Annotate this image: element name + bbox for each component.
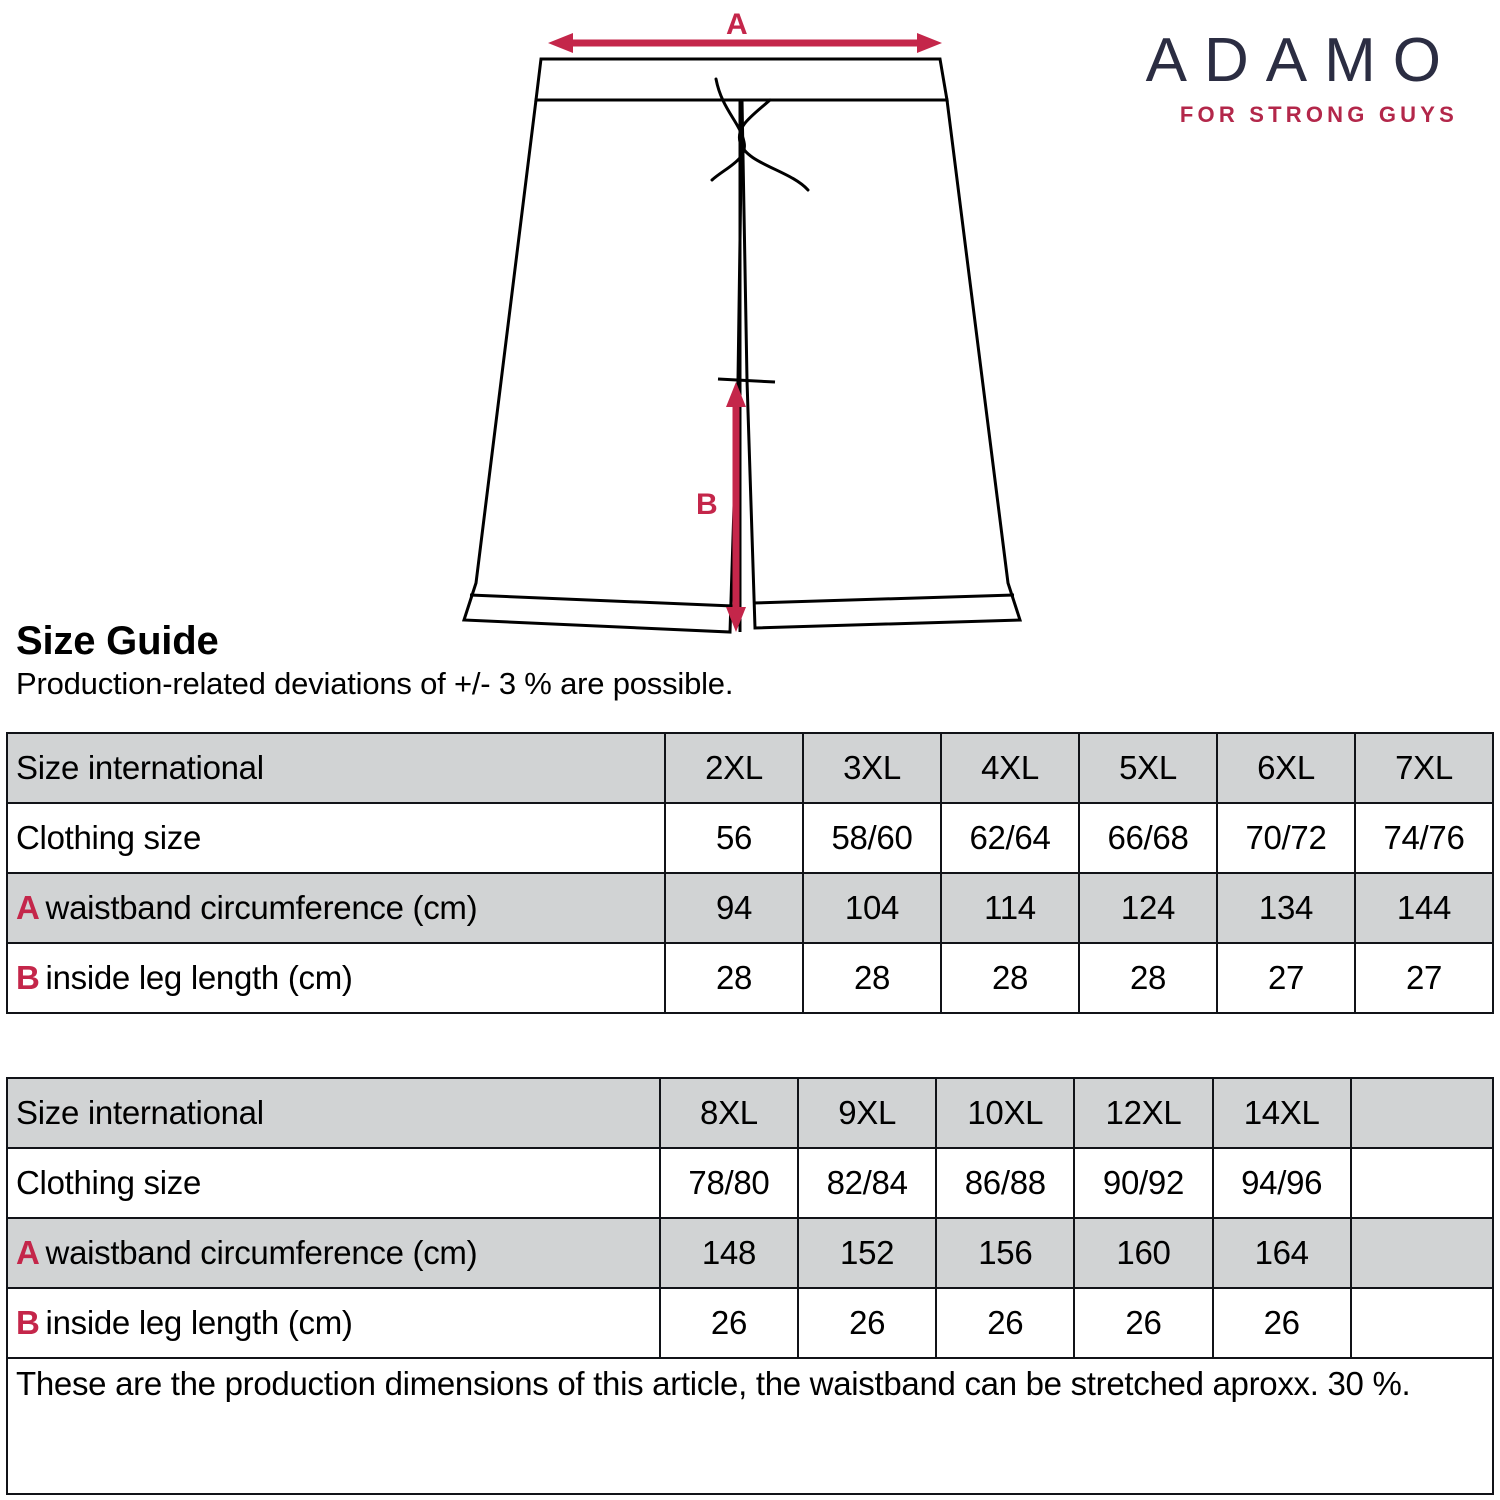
measure-marker-b: B (16, 959, 40, 996)
cell-clothing-1: 82/84 (798, 1148, 936, 1218)
cell-waistband-3: 160 (1074, 1218, 1212, 1288)
row-label-clothing-size: Clothing size (7, 1148, 660, 1218)
table-row-inside-leg: Binside leg length (cm) 28 28 28 28 27 2… (7, 943, 1493, 1013)
cell-inseam-4: 27 (1217, 943, 1355, 1013)
deviation-note: Production-related deviations of +/- 3 %… (16, 666, 1016, 702)
cell-waistband-0: 94 (665, 873, 803, 943)
row-label-waistband: Awaistband circumference (cm) (7, 1218, 660, 1288)
cell-clothing-4: 70/72 (1217, 803, 1355, 873)
cell-clothing-3: 66/68 (1079, 803, 1217, 873)
brand-logo: ADAMO FOR STRONG GUYS (1038, 30, 1458, 128)
cell-waistband-0: 148 (660, 1218, 798, 1288)
cell-waistband-2: 114 (941, 873, 1079, 943)
cell-waistband-5-empty (1351, 1218, 1493, 1288)
cell-waistband-1: 104 (803, 873, 941, 943)
measure-marker-a: A (16, 889, 40, 926)
cell-inseam-1: 28 (803, 943, 941, 1013)
cell-size-5: 7XL (1355, 733, 1493, 803)
measure-label-a: A (726, 8, 748, 42)
production-dimensions-footnote: These are the production dimensions of t… (7, 1358, 1493, 1494)
cell-size-2: 4XL (941, 733, 1079, 803)
cell-size-0: 2XL (665, 733, 803, 803)
cell-size-3: 12XL (1074, 1078, 1212, 1148)
row-label-text: inside leg length (cm) (46, 1304, 353, 1341)
cell-clothing-1: 58/60 (803, 803, 941, 873)
cell-size-3: 5XL (1079, 733, 1217, 803)
row-label-size-international: Size international (7, 733, 665, 803)
page-title: Size Guide (16, 620, 1016, 662)
cell-clothing-0: 56 (665, 803, 803, 873)
row-label-text: Size international (16, 749, 264, 786)
row-label-waistband: Awaistband circumference (cm) (7, 873, 665, 943)
cell-size-1: 3XL (803, 733, 941, 803)
row-label-text: waistband circumference (cm) (46, 889, 478, 926)
row-label-size-international: Size international (7, 1078, 660, 1148)
cell-inseam-5-empty (1351, 1288, 1493, 1358)
size-table-8xl-14xl: Size international 8XL 9XL 10XL 12XL 14X… (6, 1077, 1494, 1495)
cell-size-5-empty (1351, 1078, 1493, 1148)
cell-inseam-0: 28 (665, 943, 803, 1013)
right-leg-outline (742, 100, 1020, 628)
left-leg-outline (464, 100, 742, 632)
cell-clothing-5-empty (1351, 1148, 1493, 1218)
cell-inseam-2: 28 (941, 943, 1079, 1013)
table-row-size-international: Size international 8XL 9XL 10XL 12XL 14X… (7, 1078, 1493, 1148)
cell-size-2: 10XL (936, 1078, 1074, 1148)
cell-size-4: 14XL (1213, 1078, 1351, 1148)
table-row-clothing-size: Clothing size 56 58/60 62/64 66/68 70/72… (7, 803, 1493, 873)
measure-marker-b: B (16, 1304, 40, 1341)
cell-clothing-4: 94/96 (1213, 1148, 1351, 1218)
cell-clothing-3: 90/92 (1074, 1148, 1212, 1218)
row-label-clothing-size: Clothing size (7, 803, 665, 873)
table-row-inside-leg: Binside leg length (cm) 26 26 26 26 26 (7, 1288, 1493, 1358)
cell-waistband-4: 164 (1213, 1218, 1351, 1288)
table-row-waistband: Awaistband circumference (cm) 148 152 15… (7, 1218, 1493, 1288)
cell-inseam-3: 26 (1074, 1288, 1212, 1358)
row-label-text: waistband circumference (cm) (46, 1234, 478, 1271)
table-row-clothing-size: Clothing size 78/80 82/84 86/88 90/92 94… (7, 1148, 1493, 1218)
cell-waistband-3: 124 (1079, 873, 1217, 943)
cell-inseam-4: 26 (1213, 1288, 1351, 1358)
cell-waistband-2: 156 (936, 1218, 1074, 1288)
cell-inseam-5: 27 (1355, 943, 1493, 1013)
row-label-text: Clothing size (16, 1164, 201, 1201)
cell-size-1: 9XL (798, 1078, 936, 1148)
row-label-text: Size international (16, 1094, 264, 1131)
row-label-text: inside leg length (cm) (46, 959, 353, 996)
cell-waistband-4: 134 (1217, 873, 1355, 943)
size-guide-heading-block: Size Guide Production-related deviations… (16, 620, 1016, 702)
brand-name: ADAMO (1038, 30, 1458, 92)
row-label-text: Clothing size (16, 819, 201, 856)
measure-marker-a: A (16, 1234, 40, 1271)
garment-diagram-panel: A B ADAMO FOR STRONG GUYS (0, 0, 1500, 660)
cell-waistband-5: 144 (1355, 873, 1493, 943)
waistband-outline (536, 59, 947, 100)
cell-inseam-3: 28 (1079, 943, 1217, 1013)
cell-clothing-0: 78/80 (660, 1148, 798, 1218)
cell-size-0: 8XL (660, 1078, 798, 1148)
brand-tagline: FOR STRONG GUYS (1038, 102, 1458, 128)
cell-inseam-0: 26 (660, 1288, 798, 1358)
table-row-size-international: Size international 2XL 3XL 4XL 5XL 6XL 7… (7, 733, 1493, 803)
cell-inseam-1: 26 (798, 1288, 936, 1358)
cell-inseam-2: 26 (936, 1288, 1074, 1358)
row-label-inside-leg: Binside leg length (cm) (7, 1288, 660, 1358)
measure-label-b: B (696, 488, 718, 522)
size-table-2xl-7xl: Size international 2XL 3XL 4XL 5XL 6XL 7… (6, 732, 1494, 1014)
table-row-footnote: These are the production dimensions of t… (7, 1358, 1493, 1494)
table-row-waistband: Awaistband circumference (cm) 94 104 114… (7, 873, 1493, 943)
cell-clothing-2: 86/88 (936, 1148, 1074, 1218)
cell-size-4: 6XL (1217, 733, 1355, 803)
cell-waistband-1: 152 (798, 1218, 936, 1288)
row-label-inside-leg: Binside leg length (cm) (7, 943, 665, 1013)
cell-clothing-2: 62/64 (941, 803, 1079, 873)
cell-clothing-5: 74/76 (1355, 803, 1493, 873)
